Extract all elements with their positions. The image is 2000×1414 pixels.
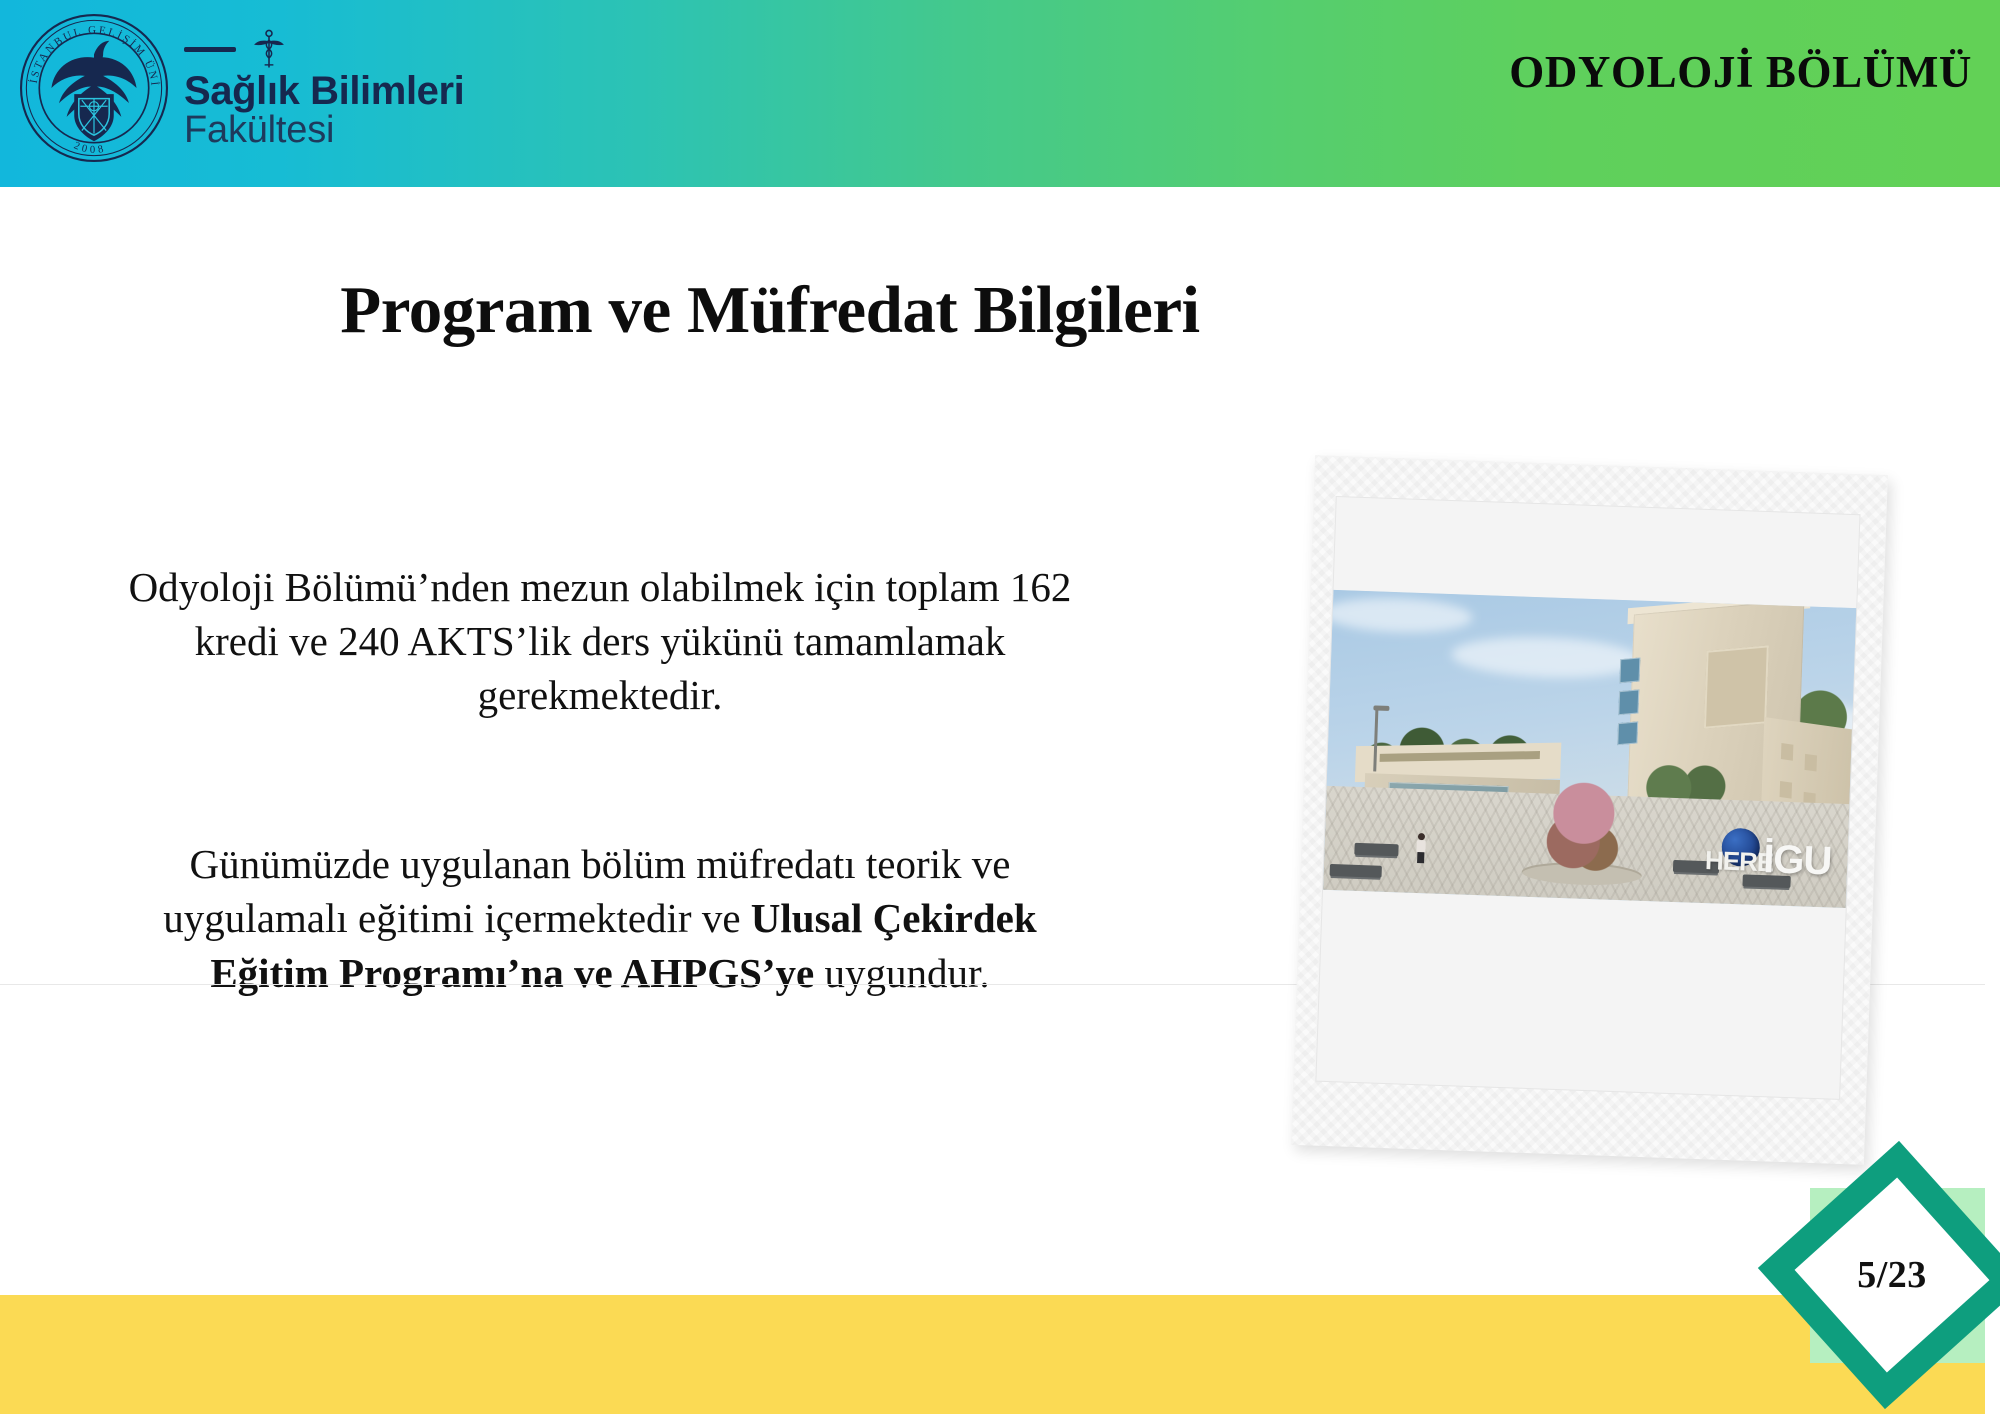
- slide-body-text: Odyoloji Bölümü’nden mezun olabilmek içi…: [110, 560, 1090, 1000]
- page-header: İSTANBUL GELİŞİM ÜNİVERSİTESİ 2008 S: [0, 0, 2000, 187]
- pedestrian: [1416, 833, 1426, 863]
- university-seal-icon: İSTANBUL GELİŞİM ÜNİVERSİTESİ 2008: [18, 12, 170, 164]
- tower-window: [1618, 689, 1639, 715]
- faculty-name-line1: Sağlık Bilimleri: [184, 71, 464, 112]
- campus-building-photo: HERE İGU: [1323, 590, 1856, 908]
- flowering-shrub: [1542, 775, 1625, 874]
- brand-text-block: Sağlık Bilimleri Fakültesi: [184, 29, 464, 152]
- department-title: ODYOLOJİ BÖLÜMÜ: [1509, 46, 1972, 98]
- logo-mark-row: [184, 29, 464, 71]
- polaroid-photo-card: HERE İGU: [1291, 455, 1888, 1165]
- lamp-head: [1373, 705, 1389, 711]
- tower-window: [1619, 657, 1640, 683]
- footer-yellow-bar: [0, 1295, 1985, 1414]
- wing-window: [1781, 743, 1794, 761]
- tower-window: [1617, 721, 1638, 745]
- building-facade-panel: [1704, 645, 1769, 728]
- bench: [1354, 843, 1398, 857]
- wing-window: [1805, 754, 1818, 772]
- para2-tail: uygundur.: [814, 950, 989, 996]
- pedestrian-legs: [1417, 852, 1424, 863]
- polaroid-frame: HERE İGU: [1291, 455, 1888, 1165]
- igu-lettering: İGU: [1763, 839, 1832, 881]
- faculty-name-line2: Fakültesi: [184, 111, 464, 151]
- bench: [1330, 864, 1382, 878]
- page-number: 5/23: [1797, 1180, 1987, 1370]
- caduceus-icon: [250, 29, 288, 71]
- paragraph-credits: Odyoloji Bölümü’nden mezun olabilmek içi…: [110, 560, 1090, 722]
- paragraph-curriculum: Günümüzde uygulanan bölüm müfredatı teor…: [110, 837, 1090, 999]
- dash-rule-icon: [184, 47, 236, 52]
- wing-window: [1780, 781, 1793, 799]
- slide-title: Program ve Müfredat Bilgileri: [0, 272, 1540, 349]
- brand-lockup: İSTANBUL GELİŞİM ÜNİVERSİTESİ 2008 S: [18, 12, 464, 164]
- polaroid-plate: HERE İGU: [1315, 496, 1860, 1100]
